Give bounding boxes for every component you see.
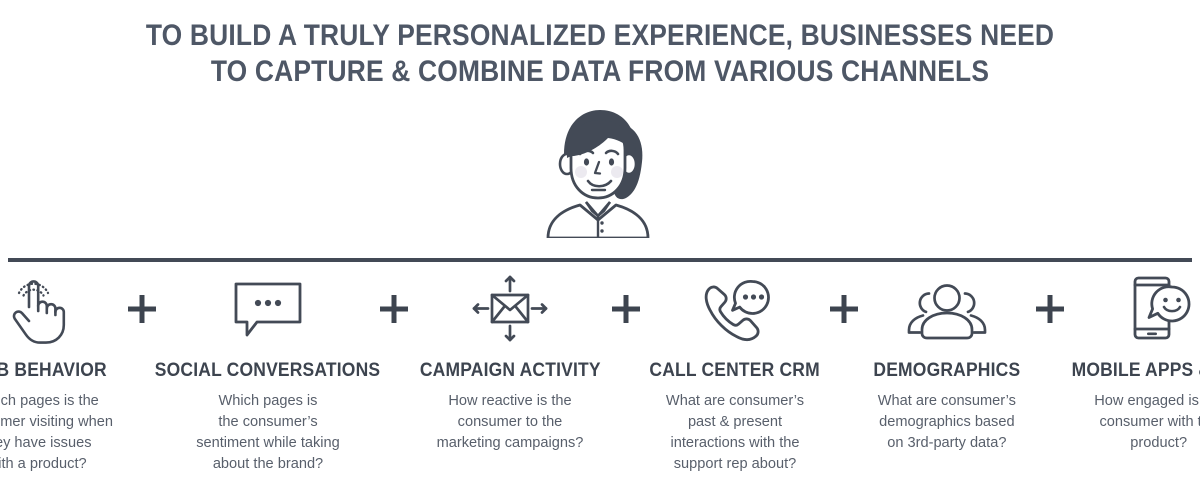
channel-campaign-activity[interactable]: CAMPAIGN ACTIVITY How reactive is the co… bbox=[417, 272, 603, 454]
plus-separator-3 bbox=[603, 272, 649, 346]
people-group-icon bbox=[905, 272, 989, 346]
channel-description: How reactive is the consumer to the mark… bbox=[431, 391, 590, 454]
channel-call-center-crm[interactable]: CALL CENTER CRM What are consumer’s past… bbox=[649, 272, 821, 475]
desc-line: interactions with the bbox=[666, 433, 804, 454]
channel-label: WEB BEHAVIOR bbox=[0, 360, 107, 382]
channel-label: SOCIAL CONVERSATIONS bbox=[155, 360, 380, 382]
page-title: TO BUILD A TRULY PERSONALIZED EXPERIENCE… bbox=[0, 0, 1200, 90]
desc-line: consumer to the bbox=[437, 412, 584, 433]
channel-label: MOBILE APPS & IOT bbox=[1072, 360, 1200, 382]
desc-line: the consumer’s bbox=[196, 412, 340, 433]
speech-bubble-dots-icon bbox=[230, 272, 306, 346]
horizontal-divider bbox=[8, 258, 1192, 262]
title-line-2: TO CAPTURE & COMBINE DATA FROM VARIOUS C… bbox=[72, 54, 1128, 90]
infographic-root: TO BUILD A TRULY PERSONALIZED EXPERIENCE… bbox=[0, 0, 1200, 490]
desc-line: How reactive is the bbox=[437, 391, 584, 412]
channel-label: CAMPAIGN ACTIVITY bbox=[420, 360, 601, 382]
smartphone-smiley-icon bbox=[1122, 272, 1196, 346]
channel-social-conversations[interactable]: SOCIAL CONVERSATIONS Which pages is the … bbox=[165, 272, 371, 475]
channel-description: Which pages is the consumer visiting whe… bbox=[0, 391, 119, 475]
channel-web-behavior[interactable]: WEB BEHAVIOR Which pages is the consumer… bbox=[0, 272, 119, 475]
channel-label: CALL CENTER CRM bbox=[650, 360, 820, 382]
channel-description: What are consumer’s past & present inter… bbox=[660, 391, 810, 475]
channel-description: Which pages is the consumer’s sentiment … bbox=[190, 391, 346, 475]
female-consumer-avatar bbox=[534, 102, 666, 238]
channel-demographics[interactable]: DEMOGRAPHICS What are consumer’s demogra… bbox=[867, 272, 1027, 454]
plus-separator-2 bbox=[371, 272, 417, 346]
title-line-1: TO BUILD A TRULY PERSONALIZED EXPERIENCE… bbox=[72, 18, 1128, 54]
plus-separator-4 bbox=[821, 272, 867, 346]
desc-line: Which pages is the bbox=[0, 391, 113, 412]
desc-line: What are consumer’s bbox=[878, 391, 1016, 412]
desc-line: sentiment while taking bbox=[196, 433, 340, 454]
phone-chat-icon bbox=[697, 272, 773, 346]
desc-line: on 3rd-party data? bbox=[878, 433, 1016, 454]
desc-line: about the brand? bbox=[196, 454, 340, 475]
channel-mobile-apps-iot[interactable]: MOBILE APPS & IOT How engaged is the con… bbox=[1073, 272, 1200, 454]
envelope-arrows-icon bbox=[471, 272, 549, 346]
desc-line: with a product? bbox=[0, 454, 113, 475]
tap-hand-icon bbox=[2, 272, 72, 346]
channel-description: How engaged is the consumer with the pro… bbox=[1088, 391, 1200, 454]
channel-label: DEMOGRAPHICS bbox=[873, 360, 1020, 382]
plus-separator-1 bbox=[119, 272, 165, 346]
desc-line: they have issues bbox=[0, 433, 113, 454]
desc-line: marketing campaigns? bbox=[437, 433, 584, 454]
desc-line: past & present bbox=[666, 412, 804, 433]
desc-line: consumer visiting when bbox=[0, 412, 113, 433]
plus-separator-5 bbox=[1027, 272, 1073, 346]
desc-line: consumer with the bbox=[1094, 412, 1200, 433]
desc-line: What are consumer’s bbox=[666, 391, 804, 412]
channels-row: WEB BEHAVIOR Which pages is the consumer… bbox=[0, 272, 1200, 475]
desc-line: demographics based bbox=[878, 412, 1016, 433]
channel-description: What are consumer’s demographics based o… bbox=[872, 391, 1022, 454]
avatar bbox=[0, 102, 1200, 242]
desc-line: Which pages is bbox=[196, 391, 340, 412]
desc-line: support rep about? bbox=[666, 454, 804, 475]
desc-line: product? bbox=[1094, 433, 1200, 454]
desc-line: How engaged is the bbox=[1094, 391, 1200, 412]
